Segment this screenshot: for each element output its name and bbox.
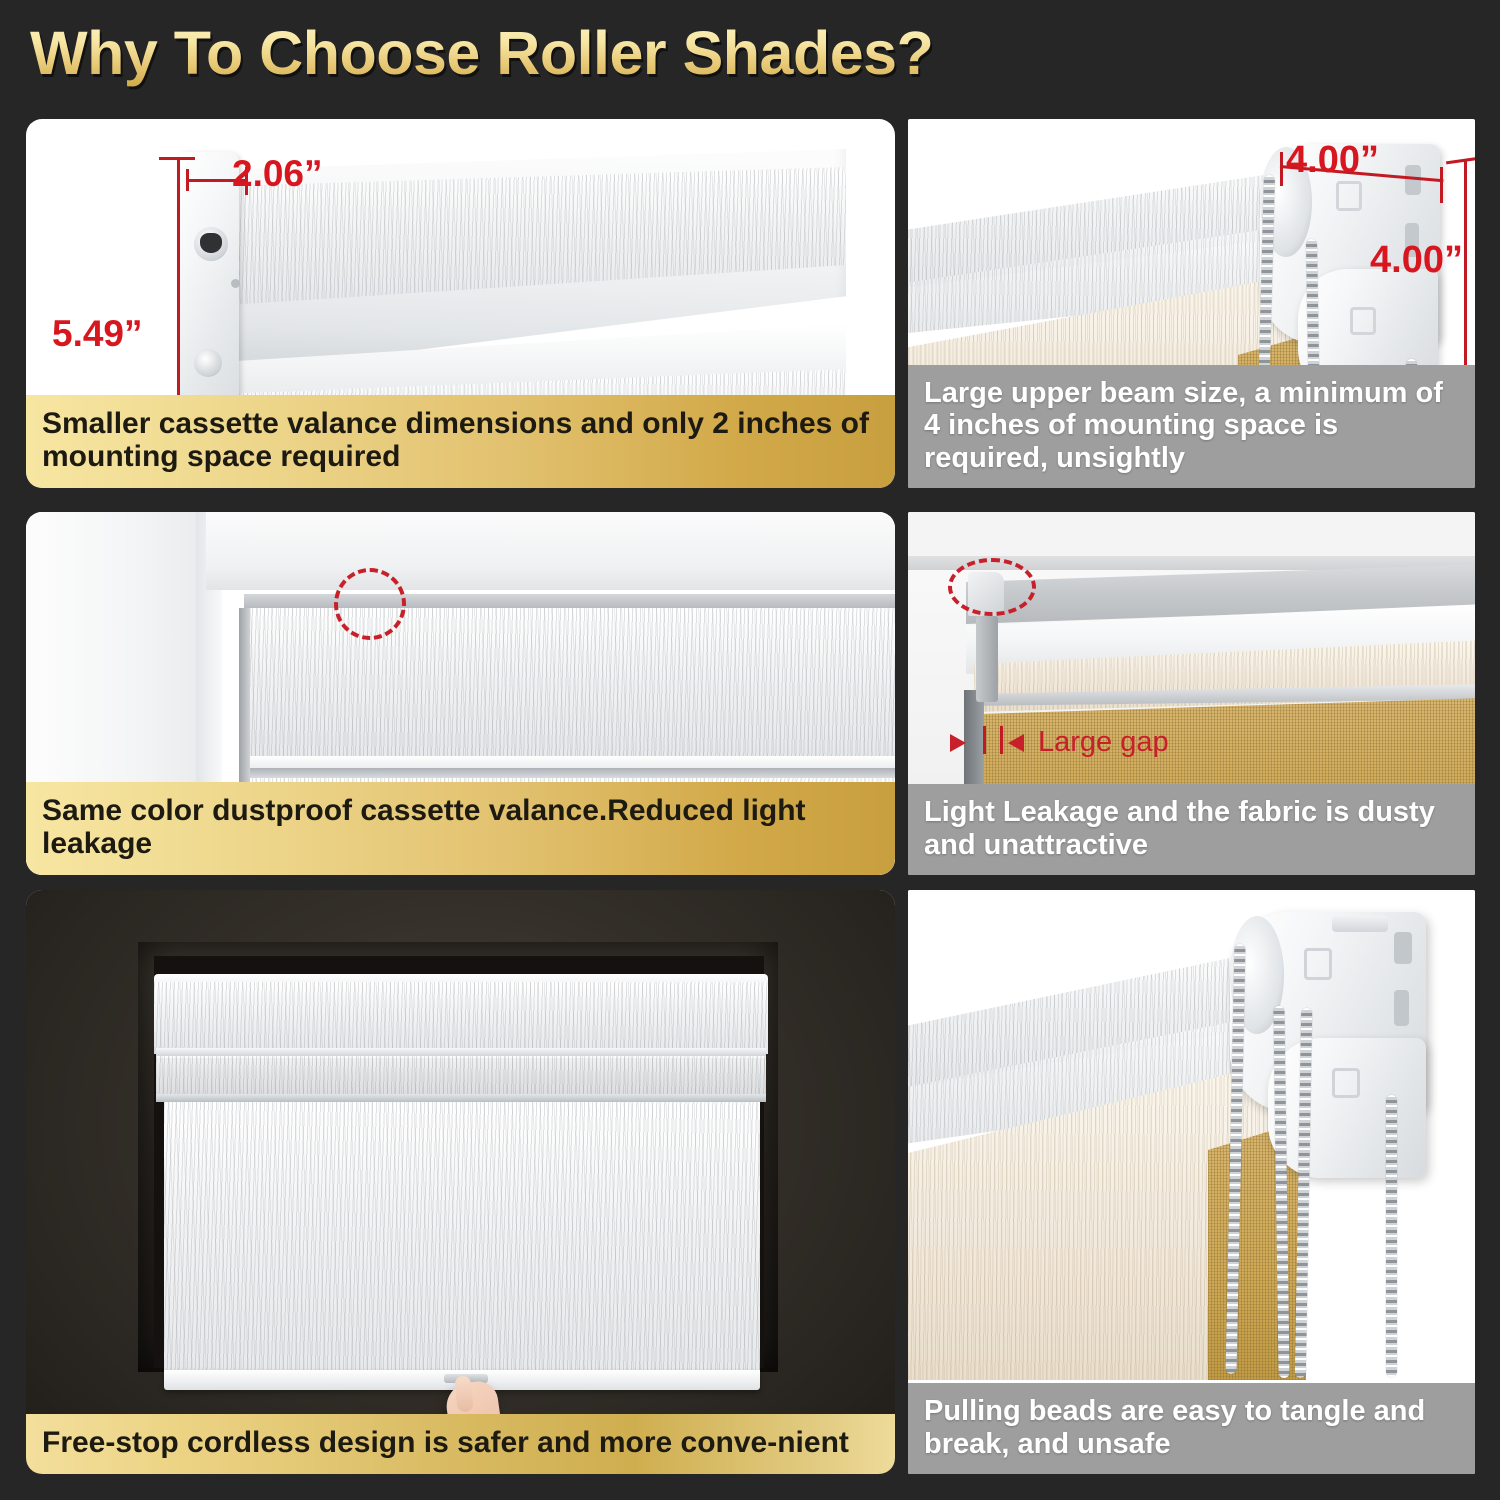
- gap-label-large: Large gap: [1038, 726, 1169, 759]
- dim-beam-width-tick-right: [1440, 167, 1443, 203]
- caption-large-gap: Light Leakage and the fabric is dusty an…: [908, 784, 1475, 875]
- photo-room-window: [26, 890, 895, 1474]
- dim-beam-height-tick-top: [1446, 157, 1475, 165]
- bracket-post: [976, 616, 998, 702]
- dim-beam-height-line: [1464, 159, 1467, 374]
- window-casing-top: [206, 512, 895, 590]
- bracket-emboss-1: [1336, 181, 1362, 211]
- panel-smaller-cassette: 2.06” 5.49” Smaller cassette valance dim…: [26, 119, 895, 488]
- dim-beam-width-label: 4.00”: [1286, 139, 1379, 182]
- valance-lower-band: [156, 1056, 766, 1098]
- bead-bracket-emboss-1: [1304, 948, 1332, 980]
- highlight-ellipse-large-gap: [948, 558, 1036, 616]
- caption-pulling-beads: Pulling beads are easy to tangle and bre…: [908, 1383, 1475, 1474]
- page-title: Why To Choose Roller Shades?: [30, 18, 1130, 88]
- bead-bracket-lower: [1268, 1038, 1426, 1178]
- end-cap-clutch-hole: [194, 227, 228, 261]
- large-gap-tick-2: [1000, 726, 1003, 754]
- valance-shadow-line: [248, 768, 895, 778]
- end-cap-screw: [194, 349, 222, 377]
- valance-face-textured: [154, 982, 768, 1054]
- large-gap-tick-1: [983, 726, 986, 754]
- dim-beam-height-label: 4.00”: [1370, 239, 1463, 282]
- caption-cordless-design: Free-stop cordless design is safer and m…: [26, 1414, 895, 1474]
- dim-height-tick-top: [159, 157, 195, 160]
- dim-beam-width-tick-left: [1280, 152, 1283, 186]
- caption-smaller-gap: Same color dustproof cassette valance.Re…: [26, 782, 895, 875]
- caption-smaller-cassette: Smaller cassette valance dimensions and …: [26, 395, 895, 488]
- dim-width-label: 2.06”: [232, 153, 323, 195]
- bead-bracket-top-tab: [1332, 916, 1388, 932]
- bracket-emboss-2: [1350, 307, 1376, 335]
- bead-chain-4: [1386, 1095, 1397, 1377]
- bead-bracket-emboss-2: [1332, 1068, 1360, 1098]
- wall-top: [908, 512, 1475, 560]
- dim-height-label: 5.49”: [52, 313, 143, 355]
- panel-smaller-gap: smaller gap Same color dustproof cassett…: [26, 512, 895, 875]
- bead-bracket-slot-1: [1394, 932, 1412, 964]
- title-bar: Why To Choose Roller Shades?: [30, 18, 1130, 102]
- panel-pulling-beads: Pulling beads are easy to tangle and bre…: [908, 890, 1475, 1474]
- bead-bracket-slot-2: [1394, 990, 1409, 1026]
- valance-lower-edge: [156, 1094, 766, 1102]
- large-gap-arrow-left: [950, 734, 966, 752]
- panel-large-gap: Large gap Light Leakage and the fabric i…: [908, 512, 1475, 875]
- panel-cordless-design: Free-stop cordless design is safer and m…: [26, 890, 895, 1474]
- panel-large-upper-beam: 4.00” 4.00” Large upper beam size, a min…: [908, 119, 1475, 488]
- highlight-ellipse-small-gap: [334, 568, 406, 640]
- shade-main-fabric: [164, 1102, 760, 1380]
- caption-large-upper-beam: Large upper beam size, a minimum of 4 in…: [908, 365, 1475, 488]
- large-gap-arrow-right: [1008, 734, 1024, 752]
- end-cap-pin: [231, 279, 240, 288]
